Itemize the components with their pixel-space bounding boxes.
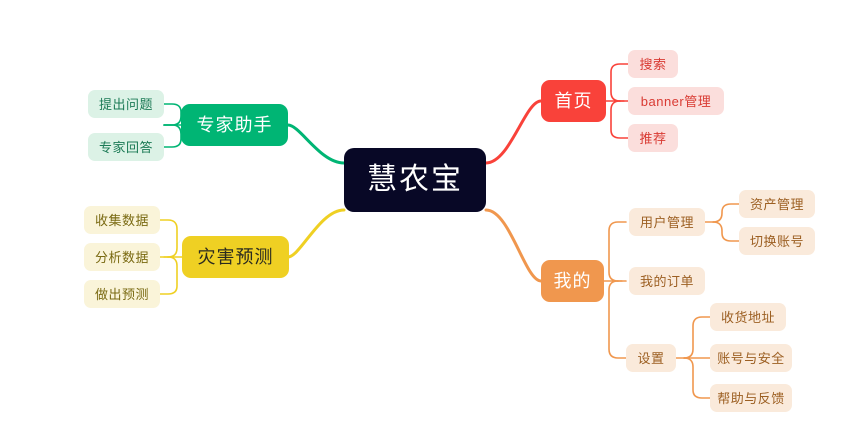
leaf-node-shipping-address[interactable]: 收货地址	[710, 303, 786, 331]
root-node-label: 慧农宝	[367, 165, 463, 195]
branch-label-home: 首页	[555, 92, 593, 110]
leaf-node-settings[interactable]: 设置	[626, 344, 676, 372]
link-root-to-disaster-forecast	[288, 210, 344, 257]
leaf-node-account-security[interactable]: 账号与安全	[710, 344, 792, 372]
leaf-label-account-security: 账号与安全	[717, 352, 785, 365]
branch-label-mine: 我的	[554, 272, 592, 290]
leaf-label-user-management: 用户管理	[640, 216, 694, 229]
leaf-label-make-forecast: 做出预测	[95, 288, 149, 301]
leaf-label-switch-account: 切换账号	[750, 235, 804, 248]
leaf-label-asset-management: 资产管理	[750, 198, 804, 211]
leaf-node-ask-question[interactable]: 提出问题	[88, 90, 164, 118]
branch-node-home[interactable]: 首页	[541, 80, 606, 122]
link-root-to-home	[486, 101, 541, 163]
mindmap-canvas: 慧农宝 专家助手 提出问题 专家回答 灾害预测 收集数据 分析数据 做出预测 首…	[0, 0, 854, 424]
leaf-node-my-orders[interactable]: 我的订单	[629, 267, 705, 295]
leaf-label-banner-management: banner管理	[641, 95, 711, 108]
leaf-node-search[interactable]: 搜索	[628, 50, 678, 78]
link-group-user-management	[705, 204, 739, 241]
leaf-node-banner-management[interactable]: banner管理	[628, 87, 724, 115]
leaf-label-collect-data: 收集数据	[95, 214, 149, 227]
leaf-label-search: 搜索	[639, 58, 666, 71]
leaf-node-recommend[interactable]: 推荐	[628, 124, 678, 152]
leaf-node-asset-management[interactable]: 资产管理	[739, 190, 815, 218]
leaf-node-analyze-data[interactable]: 分析数据	[84, 243, 160, 271]
leaf-label-analyze-data: 分析数据	[95, 251, 149, 264]
leaf-label-settings: 设置	[637, 352, 664, 365]
leaf-label-my-orders: 我的订单	[640, 275, 694, 288]
link-group-mine	[604, 222, 626, 358]
leaf-node-help-feedback[interactable]: 帮助与反馈	[710, 384, 792, 412]
leaf-label-expert-answer: 专家回答	[99, 141, 153, 154]
link-root-to-expert-assistant	[288, 125, 344, 163]
branch-node-mine[interactable]: 我的	[541, 260, 604, 302]
branch-node-disaster-forecast[interactable]: 灾害预测	[182, 236, 289, 278]
leaf-label-ask-question: 提出问题	[99, 98, 153, 111]
root-node[interactable]: 慧农宝	[344, 148, 486, 212]
leaf-node-expert-answer[interactable]: 专家回答	[88, 133, 164, 161]
leaf-label-recommend: 推荐	[639, 132, 666, 145]
branch-node-expert-assistant[interactable]: 专家助手	[181, 104, 288, 146]
leaf-node-collect-data[interactable]: 收集数据	[84, 206, 160, 234]
leaf-node-switch-account[interactable]: 切换账号	[739, 227, 815, 255]
leaf-node-make-forecast[interactable]: 做出预测	[84, 280, 160, 308]
branch-label-disaster-forecast: 灾害预测	[198, 248, 274, 266]
link-group-settings	[676, 317, 710, 398]
link-group-expert-assistant	[164, 104, 181, 147]
leaf-node-user-management[interactable]: 用户管理	[629, 208, 705, 236]
leaf-label-shipping-address: 收货地址	[721, 311, 775, 324]
branch-label-expert-assistant: 专家助手	[197, 116, 273, 134]
link-root-to-mine	[486, 210, 541, 281]
link-group-home	[606, 64, 628, 138]
leaf-label-help-feedback: 帮助与反馈	[717, 392, 785, 405]
link-group-disaster-forecast	[160, 220, 182, 294]
